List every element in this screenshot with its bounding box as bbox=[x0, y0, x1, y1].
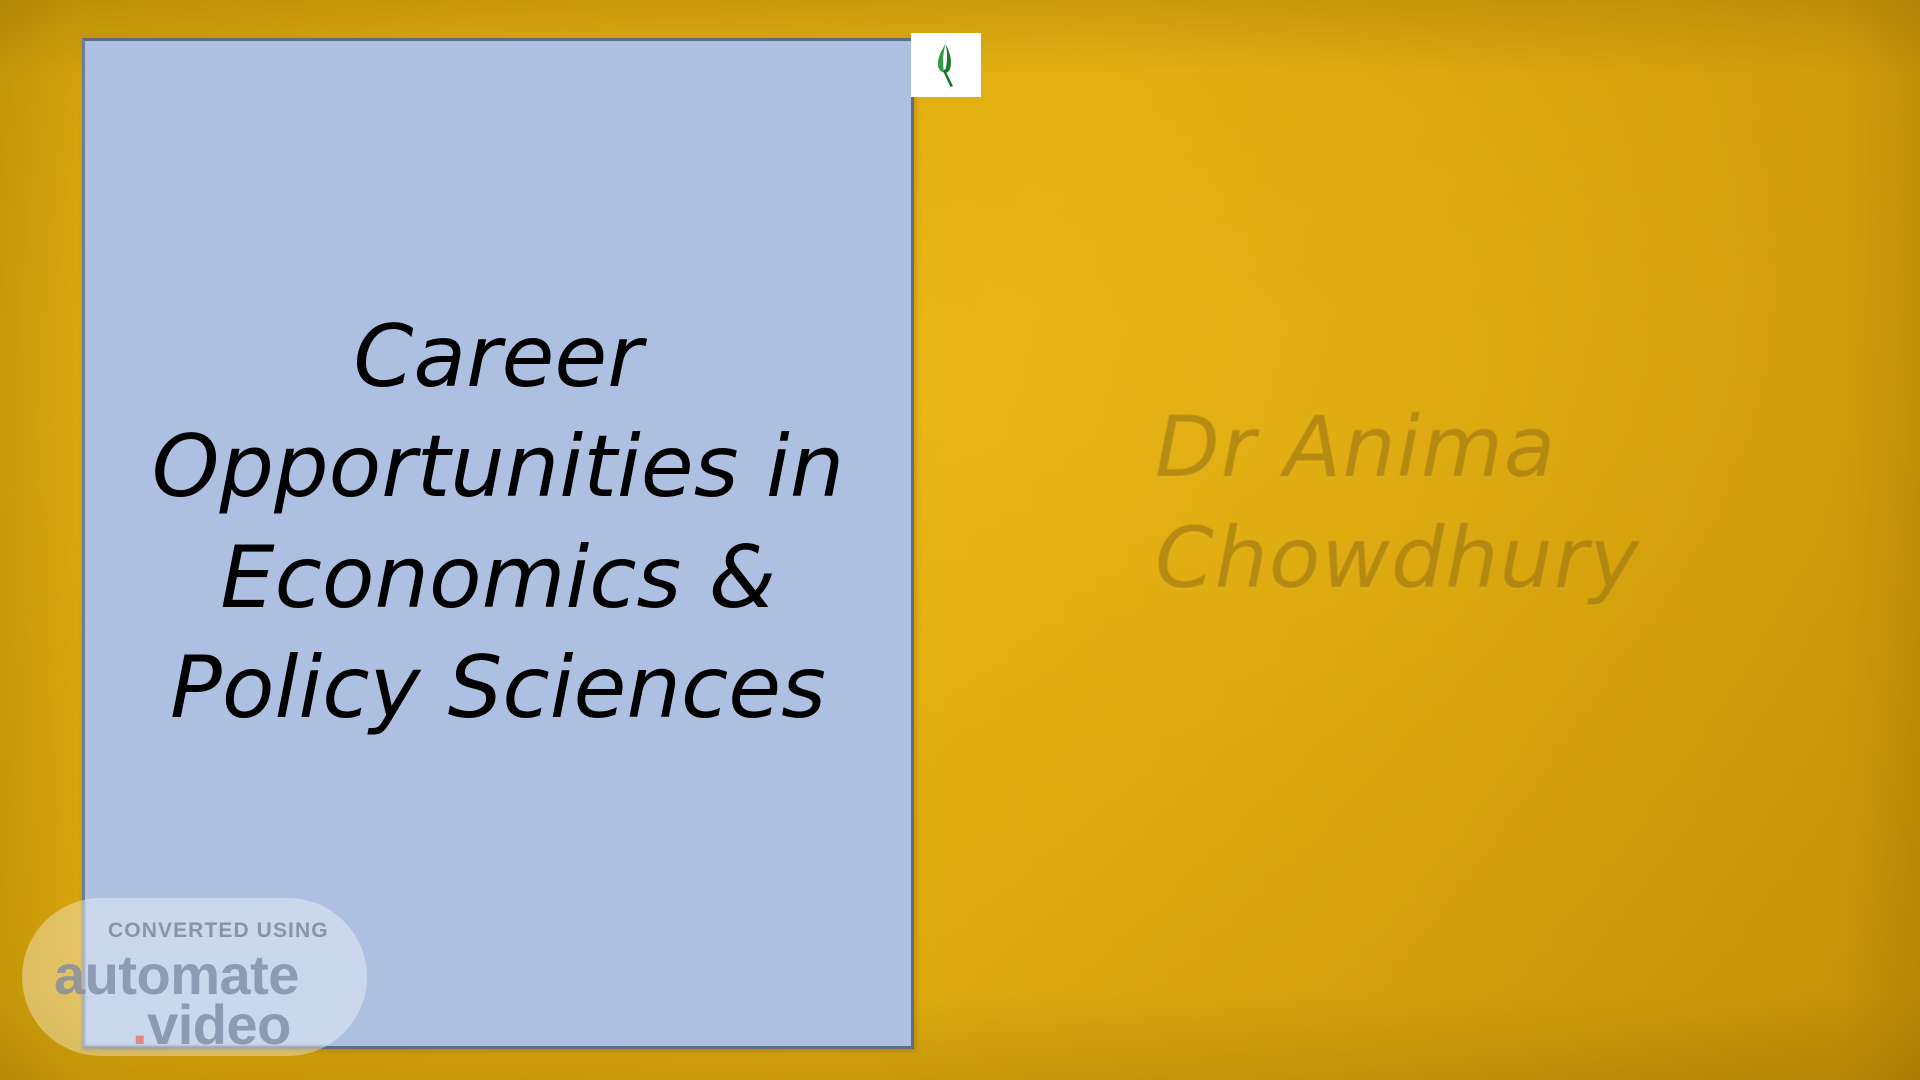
leaf-badge bbox=[911, 33, 981, 97]
slide-panel: Career Opportunities in Economics & Poli… bbox=[82, 38, 914, 1049]
presenter-name: Dr Anima Chowdhury bbox=[1155, 392, 1895, 614]
slide-panel-inner: Career Opportunities in Economics & Poli… bbox=[85, 41, 911, 1046]
green-leaf-icon bbox=[929, 42, 963, 88]
slide-stage: Dr Anima Chowdhury Career Opportunities … bbox=[0, 0, 1920, 1080]
slide-title: Career Opportunities in Economics & Poli… bbox=[138, 302, 859, 742]
